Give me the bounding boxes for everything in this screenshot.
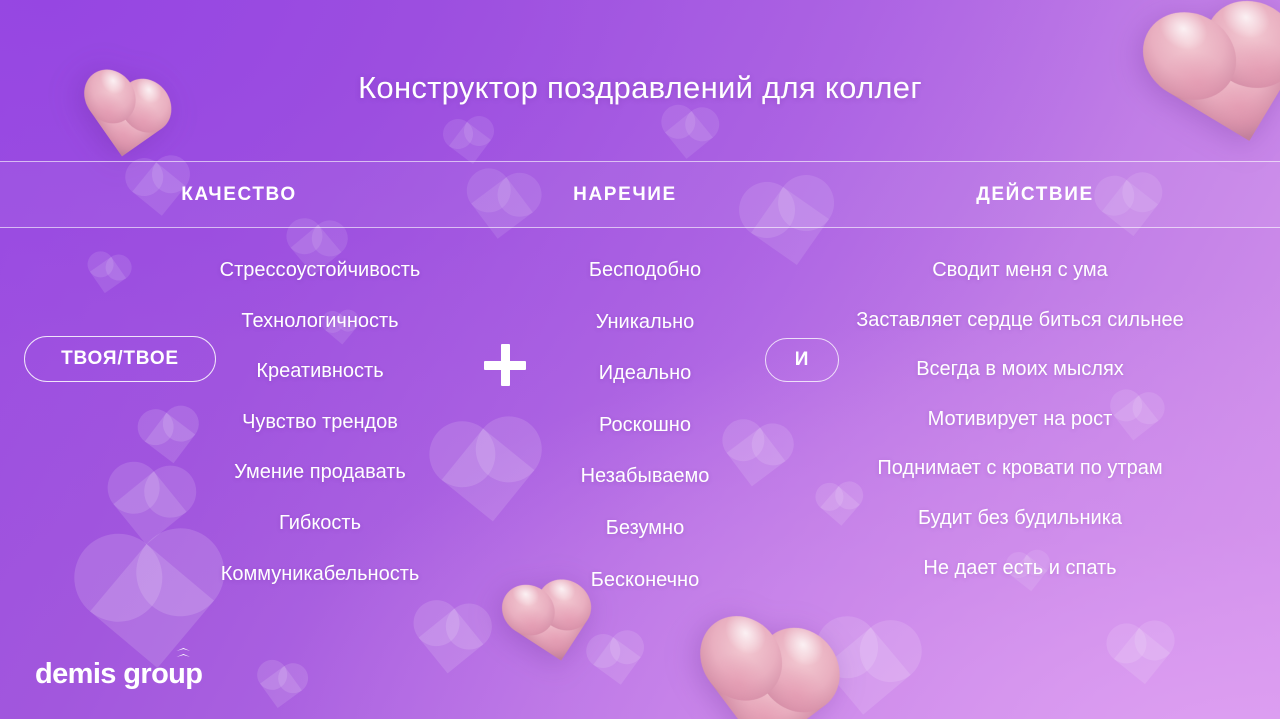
subject-pill[interactable]: ТВОЯ/ТВОЕ (24, 336, 216, 382)
slide-header: Конструктор поздравлений для коллег (0, 0, 1280, 161)
word-item[interactable]: Идеально (530, 361, 760, 387)
word-item[interactable]: Мотивирует на рост (830, 407, 1210, 433)
word-item[interactable]: Сводит меня с ума (830, 258, 1210, 284)
column-heading-action: ДЕЙСТВИЕ (790, 184, 1280, 206)
word-item[interactable]: Заставляет сердце биться сильнее (830, 308, 1210, 334)
word-item[interactable]: Коммуникабельность (150, 562, 490, 588)
conjunction-pill[interactable]: И (765, 338, 839, 382)
word-item[interactable]: Роскошно (530, 413, 760, 439)
column-action-list: Сводит меня с умаЗаставляет сердце битьс… (830, 258, 1210, 581)
column-adverb-list: БесподобноУникальноИдеальноРоскошноНезаб… (530, 258, 760, 593)
word-item[interactable]: Всегда в моих мыслях (830, 357, 1210, 383)
word-item[interactable]: Незабываемо (530, 464, 760, 490)
plus-operator-icon (484, 344, 526, 386)
column-headings-row: КАЧЕСТВО НАРЕЧИЕ ДЕЙСТВИЕ (0, 162, 1280, 227)
logo-text: demis group (35, 660, 202, 689)
word-item[interactable]: Бесконечно (530, 568, 760, 594)
word-item[interactable]: Чувство трендов (150, 410, 490, 436)
column-quality-list: СтрессоустойчивостьТехнологичностьКреати… (150, 258, 490, 587)
word-item[interactable]: Гибкость (150, 511, 490, 537)
word-item[interactable]: Технологичность (150, 309, 490, 335)
double-chevron-up-icon (176, 648, 190, 661)
columns-body: СтрессоустойчивостьТехнологичностьКреати… (0, 228, 1280, 719)
logo-demis-group[interactable]: demis group (35, 660, 202, 689)
column-heading-adverb: НАРЕЧИЕ (460, 184, 790, 206)
word-item[interactable]: Безумно (530, 516, 760, 542)
word-item[interactable]: Будит без будильника (830, 506, 1210, 532)
word-item[interactable]: Умение продавать (150, 460, 490, 486)
page-title: Конструктор поздравлений для коллег (358, 70, 922, 106)
word-item[interactable]: Поднимает с кровати по утрам (830, 456, 1210, 482)
word-item[interactable]: Не дает есть и спать (830, 556, 1210, 582)
slide-root: Конструктор поздравлений для коллег КАЧЕ… (0, 0, 1280, 719)
word-item[interactable]: Бесподобно (530, 258, 760, 284)
word-item[interactable]: Стрессоустойчивость (150, 258, 490, 284)
word-item[interactable]: Уникально (530, 310, 760, 336)
column-heading-quality: КАЧЕСТВО (0, 184, 460, 206)
